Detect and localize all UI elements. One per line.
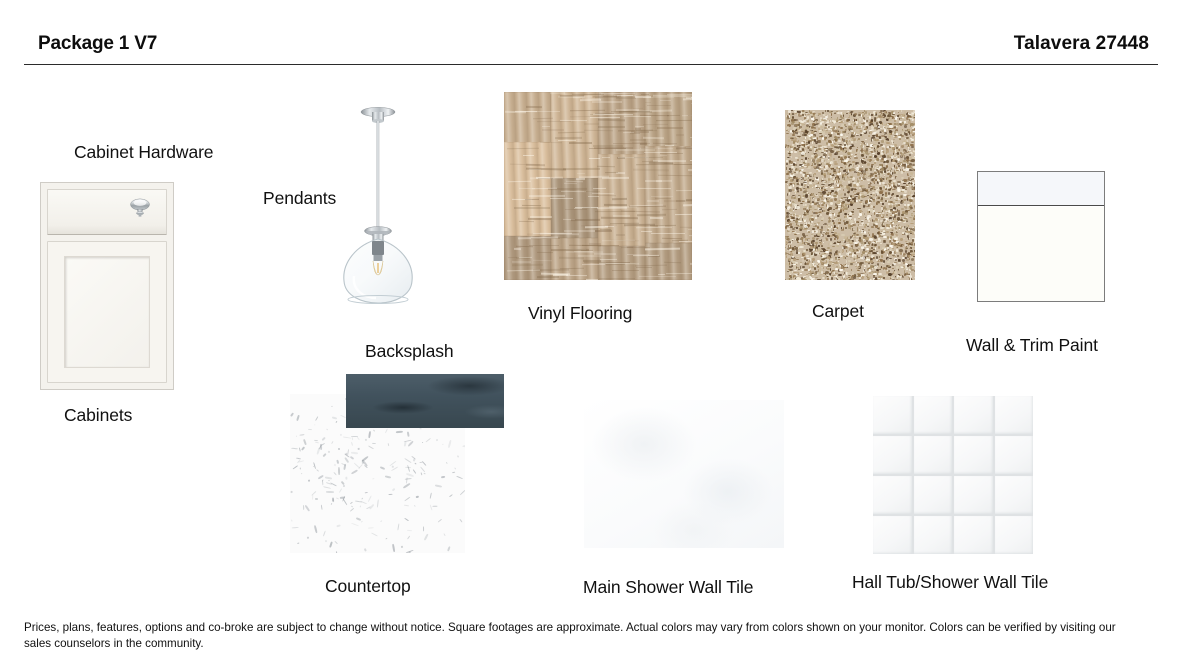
carpet-fleck [814, 223, 816, 225]
quartz-speck [291, 490, 293, 492]
carpet-fleck [821, 204, 824, 206]
carpet-fleck [864, 196, 865, 197]
vinyl-grain [603, 95, 617, 96]
carpet-fleck [878, 197, 880, 199]
carpet-fleck [799, 186, 802, 188]
carpet-fleck [841, 229, 843, 231]
quartz-speck [303, 439, 307, 445]
carpet-fleck [815, 217, 817, 219]
carpet-fleck [827, 256, 830, 259]
carpet-fleck [876, 122, 879, 124]
carpet-fleck [843, 275, 845, 277]
carpet-fleck [797, 159, 799, 161]
carpet-fleck [792, 256, 795, 257]
vinyl-grain [650, 224, 676, 226]
carpet-fleck [828, 129, 831, 131]
carpet-fleck [898, 262, 901, 263]
quartz-speck [442, 444, 444, 445]
carpet-fleck [804, 177, 806, 180]
quartz-speck [292, 465, 298, 469]
carpet-fleck [899, 163, 900, 165]
carpet-fleck [837, 215, 839, 217]
carpet-fleck [813, 174, 815, 177]
carpet-fleck [863, 119, 864, 120]
carpet-fleck [812, 211, 813, 213]
carpet-fleck [800, 263, 802, 264]
carpet-fleck [818, 113, 821, 115]
carpet-fleck [892, 167, 894, 170]
carpet-fleck [865, 200, 867, 203]
carpet-fleck [914, 178, 915, 180]
quartz-speck [380, 466, 385, 470]
vinyl-grain [586, 279, 598, 280]
carpet-fleck [910, 186, 911, 187]
carpet-fleck [798, 140, 800, 142]
carpet-fleck [914, 124, 915, 126]
carpet-fleck [850, 240, 852, 243]
carpet-fleck [883, 195, 884, 198]
cabinets-label: Cabinets [64, 405, 132, 426]
carpet-fleck [831, 113, 832, 116]
carpet-fleck [842, 146, 845, 148]
carpet-fleck [807, 199, 809, 200]
carpet-fleck [810, 197, 811, 200]
carpet-fleck [825, 166, 827, 169]
carpet-fleck [821, 197, 823, 200]
quartz-speck [368, 445, 374, 449]
carpet-fleck [908, 196, 910, 199]
carpet-fleck [827, 247, 830, 249]
carpet-fleck [797, 247, 798, 248]
carpet-fleck [877, 261, 880, 262]
carpet-fleck [914, 277, 915, 278]
carpet-fleck [894, 188, 896, 189]
carpet-fleck [790, 252, 793, 255]
carpet-fleck [842, 175, 843, 177]
carpet-fleck [873, 246, 876, 248]
carpet-fleck [830, 166, 833, 168]
carpet-fleck [908, 131, 910, 133]
carpet-fleck [792, 174, 795, 176]
carpet-fleck [845, 215, 846, 218]
carpet-fleck [913, 177, 915, 178]
carpet-fleck [817, 279, 820, 280]
carpet-fleck [859, 124, 863, 126]
carpet-fleck [867, 217, 869, 219]
vinyl-grain [643, 96, 674, 97]
carpet-fleck [838, 225, 839, 227]
carpet-fleck [894, 123, 895, 124]
carpet-fleck [900, 172, 904, 174]
carpet-fleck [841, 265, 843, 267]
carpet-fleck [882, 214, 885, 216]
carpet-fleck [816, 177, 818, 178]
carpet-fleck [826, 238, 828, 241]
carpet-fleck [835, 253, 838, 255]
carpet-fleck [885, 246, 888, 247]
carpet-fleck [906, 259, 909, 261]
carpet-fleck [882, 179, 883, 180]
carpet-fleck [798, 180, 799, 183]
carpet-fleck [880, 243, 883, 244]
carpet-fleck [872, 190, 874, 191]
quartz-speck [349, 507, 354, 512]
vinyl-grain [612, 270, 639, 271]
carpet-fleck [836, 202, 839, 203]
carpet-fleck [787, 146, 789, 148]
carpet-fleck [908, 255, 909, 258]
carpet-fleck [846, 253, 849, 256]
carpet-fleck [858, 218, 860, 220]
carpet-fleck [834, 242, 836, 244]
carpet-fleck [814, 147, 816, 148]
carpet-fleck [833, 126, 834, 129]
carpet-fleck [848, 205, 850, 208]
vinyl-grain [648, 256, 660, 257]
carpet-fleck [885, 126, 888, 128]
carpet-fleck [835, 279, 837, 280]
carpet-fleck [838, 140, 841, 142]
carpet-fleck [883, 186, 885, 188]
vinyl-grain [564, 230, 595, 232]
carpet-fleck [850, 123, 853, 125]
carpet-fleck [889, 245, 892, 248]
quartz-speck [326, 428, 329, 430]
carpet-fleck [788, 131, 789, 132]
carpet-fleck [851, 115, 853, 117]
quartz-speck [328, 450, 331, 453]
carpet-fleck [909, 209, 912, 210]
cabinet-hardware-label: Cabinet Hardware [74, 142, 213, 163]
quartz-speck [300, 472, 302, 474]
carpet-fleck [789, 262, 790, 264]
carpet-fleck [845, 227, 846, 229]
carpet-fleck [832, 246, 835, 247]
carpet-fleck [845, 246, 847, 248]
vinyl-grain [532, 187, 557, 189]
quartz-speck [454, 468, 456, 471]
carpet-fleck [865, 139, 867, 140]
carpet-fleck [830, 216, 832, 218]
carpet-fleck [839, 272, 842, 273]
quartz-speck [332, 416, 337, 419]
hall-tile-cell [995, 436, 1034, 474]
carpet-fleck [867, 174, 869, 176]
quartz-speck [337, 525, 341, 528]
quartz-speck [356, 436, 360, 440]
carpet-fleck [803, 250, 806, 253]
carpet-fleck [839, 178, 841, 180]
carpet-fleck [803, 229, 806, 231]
vinyl-grain [683, 204, 692, 207]
carpet-fleck [886, 231, 889, 233]
quartz-speck [389, 493, 393, 494]
quartz-speck [301, 446, 305, 450]
vinyl-flooring-label: Vinyl Flooring [528, 303, 632, 324]
carpet-fleck [864, 231, 866, 234]
carpet-fleck [831, 173, 833, 175]
quartz-speck [334, 464, 336, 466]
carpet-fleck [910, 135, 911, 137]
carpet-fleck [871, 139, 872, 142]
carpet-fleck [897, 209, 898, 211]
quartz-speck [372, 533, 379, 537]
carpet-fleck [845, 140, 847, 142]
quartz-speck [315, 441, 319, 443]
carpet-fleck [821, 184, 824, 185]
wall-trim-paint-swatch[interactable] [977, 171, 1105, 302]
carpet-fleck [859, 225, 861, 227]
carpet-fleck [870, 175, 871, 177]
carpet-fleck [808, 231, 810, 233]
carpet-fleck [910, 223, 913, 224]
carpet-fleck [913, 218, 915, 219]
carpet-fleck [856, 141, 858, 142]
carpet-fleck [827, 194, 829, 195]
carpet-fleck [827, 172, 830, 175]
carpet-fleck [887, 261, 890, 263]
quartz-speck [409, 552, 411, 553]
vinyl-grain [577, 173, 585, 174]
pendants-swatch[interactable] [318, 100, 438, 305]
quartz-speck [388, 443, 390, 446]
quartz-speck [413, 469, 417, 474]
carpet-fleck [813, 198, 814, 200]
carpet-fleck [846, 250, 847, 252]
carpet-fleck [892, 160, 895, 162]
carpet-fleck [911, 219, 913, 222]
carpet-fleck [796, 233, 800, 235]
carpet-fleck [817, 215, 819, 216]
carpet-fleck [866, 146, 868, 148]
carpet-fleck [880, 144, 882, 146]
carpet-fleck [913, 211, 915, 213]
vinyl-flooring-swatch[interactable] [504, 92, 692, 280]
carpet-fleck [843, 256, 845, 257]
vinyl-grain [645, 247, 680, 250]
carpet-fleck [816, 143, 818, 144]
vinyl-grain [593, 187, 606, 188]
carpet-fleck [795, 206, 796, 209]
carpet-fleck [799, 120, 802, 121]
carpet-fleck [858, 128, 861, 130]
carpet-fleck [814, 235, 816, 237]
carpet-fleck [834, 161, 837, 162]
carpet-fleck [802, 215, 803, 218]
vinyl-grain [505, 111, 526, 113]
carpet-fleck [874, 253, 877, 254]
carpet-fleck [914, 207, 915, 209]
carpet-fleck [852, 161, 855, 163]
carpet-fleck [876, 134, 878, 136]
hall-tub-shower-wall-tile-swatch[interactable] [873, 396, 1033, 554]
carpet-fleck [896, 266, 899, 269]
carpet-fleck [823, 242, 824, 243]
carpet-fleck [878, 246, 879, 249]
carpet-fleck [796, 171, 798, 174]
carpet-fleck [803, 220, 804, 222]
carpet-fleck [827, 200, 830, 203]
carpet-fleck [877, 235, 878, 237]
carpet-fleck [908, 208, 909, 210]
carpet-fleck [828, 126, 830, 128]
carpet-fleck [829, 210, 830, 211]
carpet-fleck [849, 216, 852, 217]
carpet-fleck [829, 261, 831, 264]
carpet-fleck [886, 150, 889, 153]
carpet-fleck [814, 272, 817, 275]
carpet-fleck [834, 198, 837, 200]
carpet-fleck [803, 188, 805, 189]
carpet-fleck [791, 173, 793, 175]
carpet-fleck [850, 218, 851, 220]
carpet-fleck [831, 190, 833, 193]
carpet-fleck [892, 268, 894, 269]
carpet-swatch[interactable] [785, 110, 915, 280]
quartz-speck [304, 505, 309, 511]
carpet-fleck [834, 163, 837, 165]
carpet-fleck [911, 213, 913, 216]
carpet-fleck [821, 265, 824, 266]
carpet-fleck [886, 225, 888, 227]
quartz-speck [350, 455, 355, 459]
quartz-speck [308, 479, 310, 481]
carpet-fleck [808, 141, 810, 143]
carpet-fleck [855, 141, 856, 143]
carpet-fleck [851, 202, 854, 204]
carpet-fleck [823, 119, 826, 121]
carpet-fleck [813, 111, 815, 112]
carpet-fleck [894, 271, 897, 273]
carpet-fleck [853, 234, 856, 236]
carpet-fleck [807, 180, 809, 182]
carpet-fleck [817, 222, 820, 225]
carpet-fleck [861, 279, 863, 280]
carpet-fleck [835, 268, 838, 270]
quartz-speck [340, 434, 341, 436]
carpet-fleck [883, 251, 885, 254]
carpet-fleck [819, 157, 820, 159]
carpet-fleck [887, 247, 890, 248]
carpet-fleck [830, 134, 832, 137]
carpet-fleck [861, 136, 863, 138]
carpet-fleck [848, 154, 850, 155]
carpet-fleck [903, 238, 905, 239]
carpet-fleck [890, 240, 891, 242]
carpet-fleck [828, 137, 830, 138]
carpet-fleck [863, 205, 865, 208]
carpet-fleck [795, 189, 796, 191]
carpet-fleck [890, 234, 891, 235]
backsplash-swatch[interactable] [346, 374, 504, 428]
vinyl-grain [645, 180, 662, 182]
carpet-fleck [801, 144, 804, 147]
vinyl-grain [540, 141, 562, 142]
vinyl-grain [613, 143, 650, 144]
carpet-fleck [902, 180, 903, 181]
carpet-fleck [798, 145, 801, 146]
carpet-fleck [870, 260, 873, 263]
carpet-fleck [789, 249, 792, 251]
carpet-fleck [895, 218, 896, 220]
carpet-fleck [812, 242, 814, 244]
carpet-fleck [812, 180, 814, 181]
carpet-fleck [872, 194, 875, 196]
carpet-fleck [850, 155, 853, 156]
carpet-fleck [895, 259, 897, 262]
quartz-speck [421, 472, 423, 475]
carpet-fleck [875, 112, 877, 114]
quartz-speck [313, 525, 317, 533]
carpet-fleck [863, 178, 866, 180]
carpet-fleck [902, 234, 903, 235]
carpet-fleck [795, 225, 798, 226]
carpet-fleck [864, 226, 865, 228]
carpet-fleck [911, 159, 914, 162]
carpet-fleck [861, 222, 863, 224]
quartz-speck [291, 520, 292, 522]
quartz-speck [459, 519, 462, 523]
carpet-fleck [791, 241, 792, 244]
carpet-fleck [801, 123, 804, 126]
carpet-fleck [813, 261, 814, 264]
carpet-fleck [848, 212, 850, 214]
carpet-fleck [794, 270, 796, 271]
cabinets-swatch[interactable] [40, 182, 174, 390]
quartz-speck [316, 469, 319, 472]
carpet-fleck [871, 179, 875, 181]
quartz-speck [424, 534, 429, 541]
quartz-speck [335, 540, 339, 544]
vinyl-grain [533, 117, 553, 119]
quartz-speck [336, 551, 338, 553]
carpet-fleck [900, 226, 901, 228]
main-shower-wall-tile-swatch[interactable] [584, 400, 784, 548]
quartz-speck [328, 480, 330, 481]
carpet-fleck [852, 272, 854, 274]
carpet-fleck [825, 263, 828, 264]
carpet-fleck [854, 138, 856, 141]
carpet-fleck [876, 256, 879, 259]
carpet-fleck [814, 150, 816, 153]
carpet-fleck [856, 187, 858, 189]
carpet-fleck [831, 277, 832, 280]
carpet-fleck [822, 277, 825, 279]
quartz-speck [361, 521, 363, 523]
quartz-speck [405, 458, 412, 463]
quartz-speck [416, 495, 419, 498]
carpet-fleck [789, 266, 792, 268]
carpet-fleck [899, 229, 901, 230]
carpet-fleck [867, 163, 870, 166]
quartz-speck [343, 485, 345, 487]
carpet-fleck [859, 263, 862, 266]
hall-tile-cell [914, 516, 953, 554]
carpet-fleck [858, 165, 860, 167]
carpet-fleck [848, 117, 850, 118]
carpet-fleck [856, 119, 857, 121]
carpet-fleck [818, 188, 819, 189]
carpet-fleck [798, 156, 800, 158]
carpet-fleck [833, 130, 836, 132]
carpet-fleck [823, 275, 824, 277]
carpet-fleck [854, 236, 855, 238]
carpet-fleck [881, 255, 884, 258]
carpet-fleck [815, 114, 818, 117]
carpet-fleck [838, 222, 841, 225]
vinyl-grain [676, 134, 684, 136]
carpet-fleck [809, 206, 812, 208]
